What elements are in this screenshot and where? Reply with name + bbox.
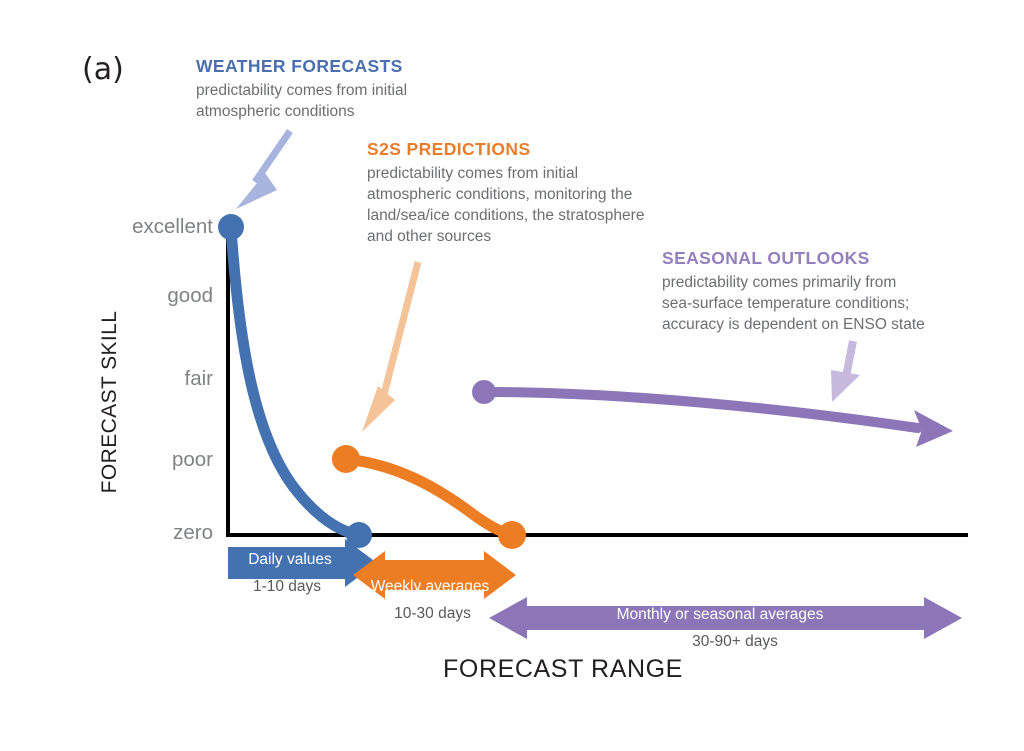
marker-weather-start (218, 214, 244, 240)
annotation-seasonal-outlooks: SEASONAL OUTLOOKS predictability comes p… (662, 248, 925, 335)
annotation-seasonal-line-3: accuracy is dependent on ENSO state (662, 314, 925, 335)
annotation-seasonal-line-2: sea-surface temperature conditions; (662, 293, 925, 314)
annotation-seasonal-line-1: predictability comes primarily from (662, 272, 925, 293)
y-tick-zero: zero (63, 521, 213, 545)
curve-seasonal-outlooks (472, 380, 953, 447)
annotation-weather-forecasts: WEATHER FORECASTS predictability comes f… (196, 56, 407, 122)
y-axis-title: FORECAST SKILL (98, 252, 122, 552)
annotation-weather-title: WEATHER FORECASTS (196, 56, 407, 77)
annotation-s2s-line-4: and other sources (367, 226, 644, 247)
annotation-s2s-predictions: S2S PREDICTIONS predictability comes fro… (367, 139, 644, 247)
annotation-s2s-line-1: predictability comes from initial (367, 163, 644, 184)
annotation-s2s-line-3: land/sea/ice conditions, the stratospher… (367, 205, 644, 226)
marker-seasonal-start (472, 380, 496, 404)
y-tick-fair: fair (63, 367, 213, 391)
range-bar-daily-label: Daily values (230, 551, 350, 569)
annotation-weather-line-2: atmospheric conditions (196, 101, 407, 122)
curve-weather-forecasts (218, 214, 372, 548)
panel-letter: (a) (82, 52, 124, 87)
weather-pointer-icon (236, 131, 290, 209)
annotation-weather-line-1: predictability comes from initial (196, 80, 407, 101)
annotation-seasonal-title: SEASONAL OUTLOOKS (662, 248, 925, 269)
marker-s2s-end (498, 521, 526, 549)
range-bar-daily-sublabel: 1-10 days (222, 578, 352, 596)
range-bar-weekly-label: Weekly averages (355, 578, 505, 596)
range-bar-monthly-label: Monthly or seasonal averages (560, 606, 880, 624)
figure-panel: (a) WEATHER FORECASTS predictability com… (0, 0, 1024, 751)
annotation-s2s-line-2: atmospheric conditions, monitoring the (367, 184, 644, 205)
range-bar-monthly-sublabel: 30-90+ days (605, 633, 865, 651)
x-axis-title: FORECAST RANGE (328, 655, 798, 684)
s2s-pointer-icon (362, 262, 418, 432)
marker-s2s-start (332, 445, 360, 473)
y-tick-good: good (63, 284, 213, 308)
seasonal-pointer-icon (831, 341, 860, 402)
range-bar-weekly-sublabel: 10-30 days (360, 605, 505, 623)
annotation-s2s-title: S2S PREDICTIONS (367, 139, 644, 160)
y-tick-poor: poor (63, 448, 213, 472)
y-tick-excellent: excellent (63, 215, 213, 239)
